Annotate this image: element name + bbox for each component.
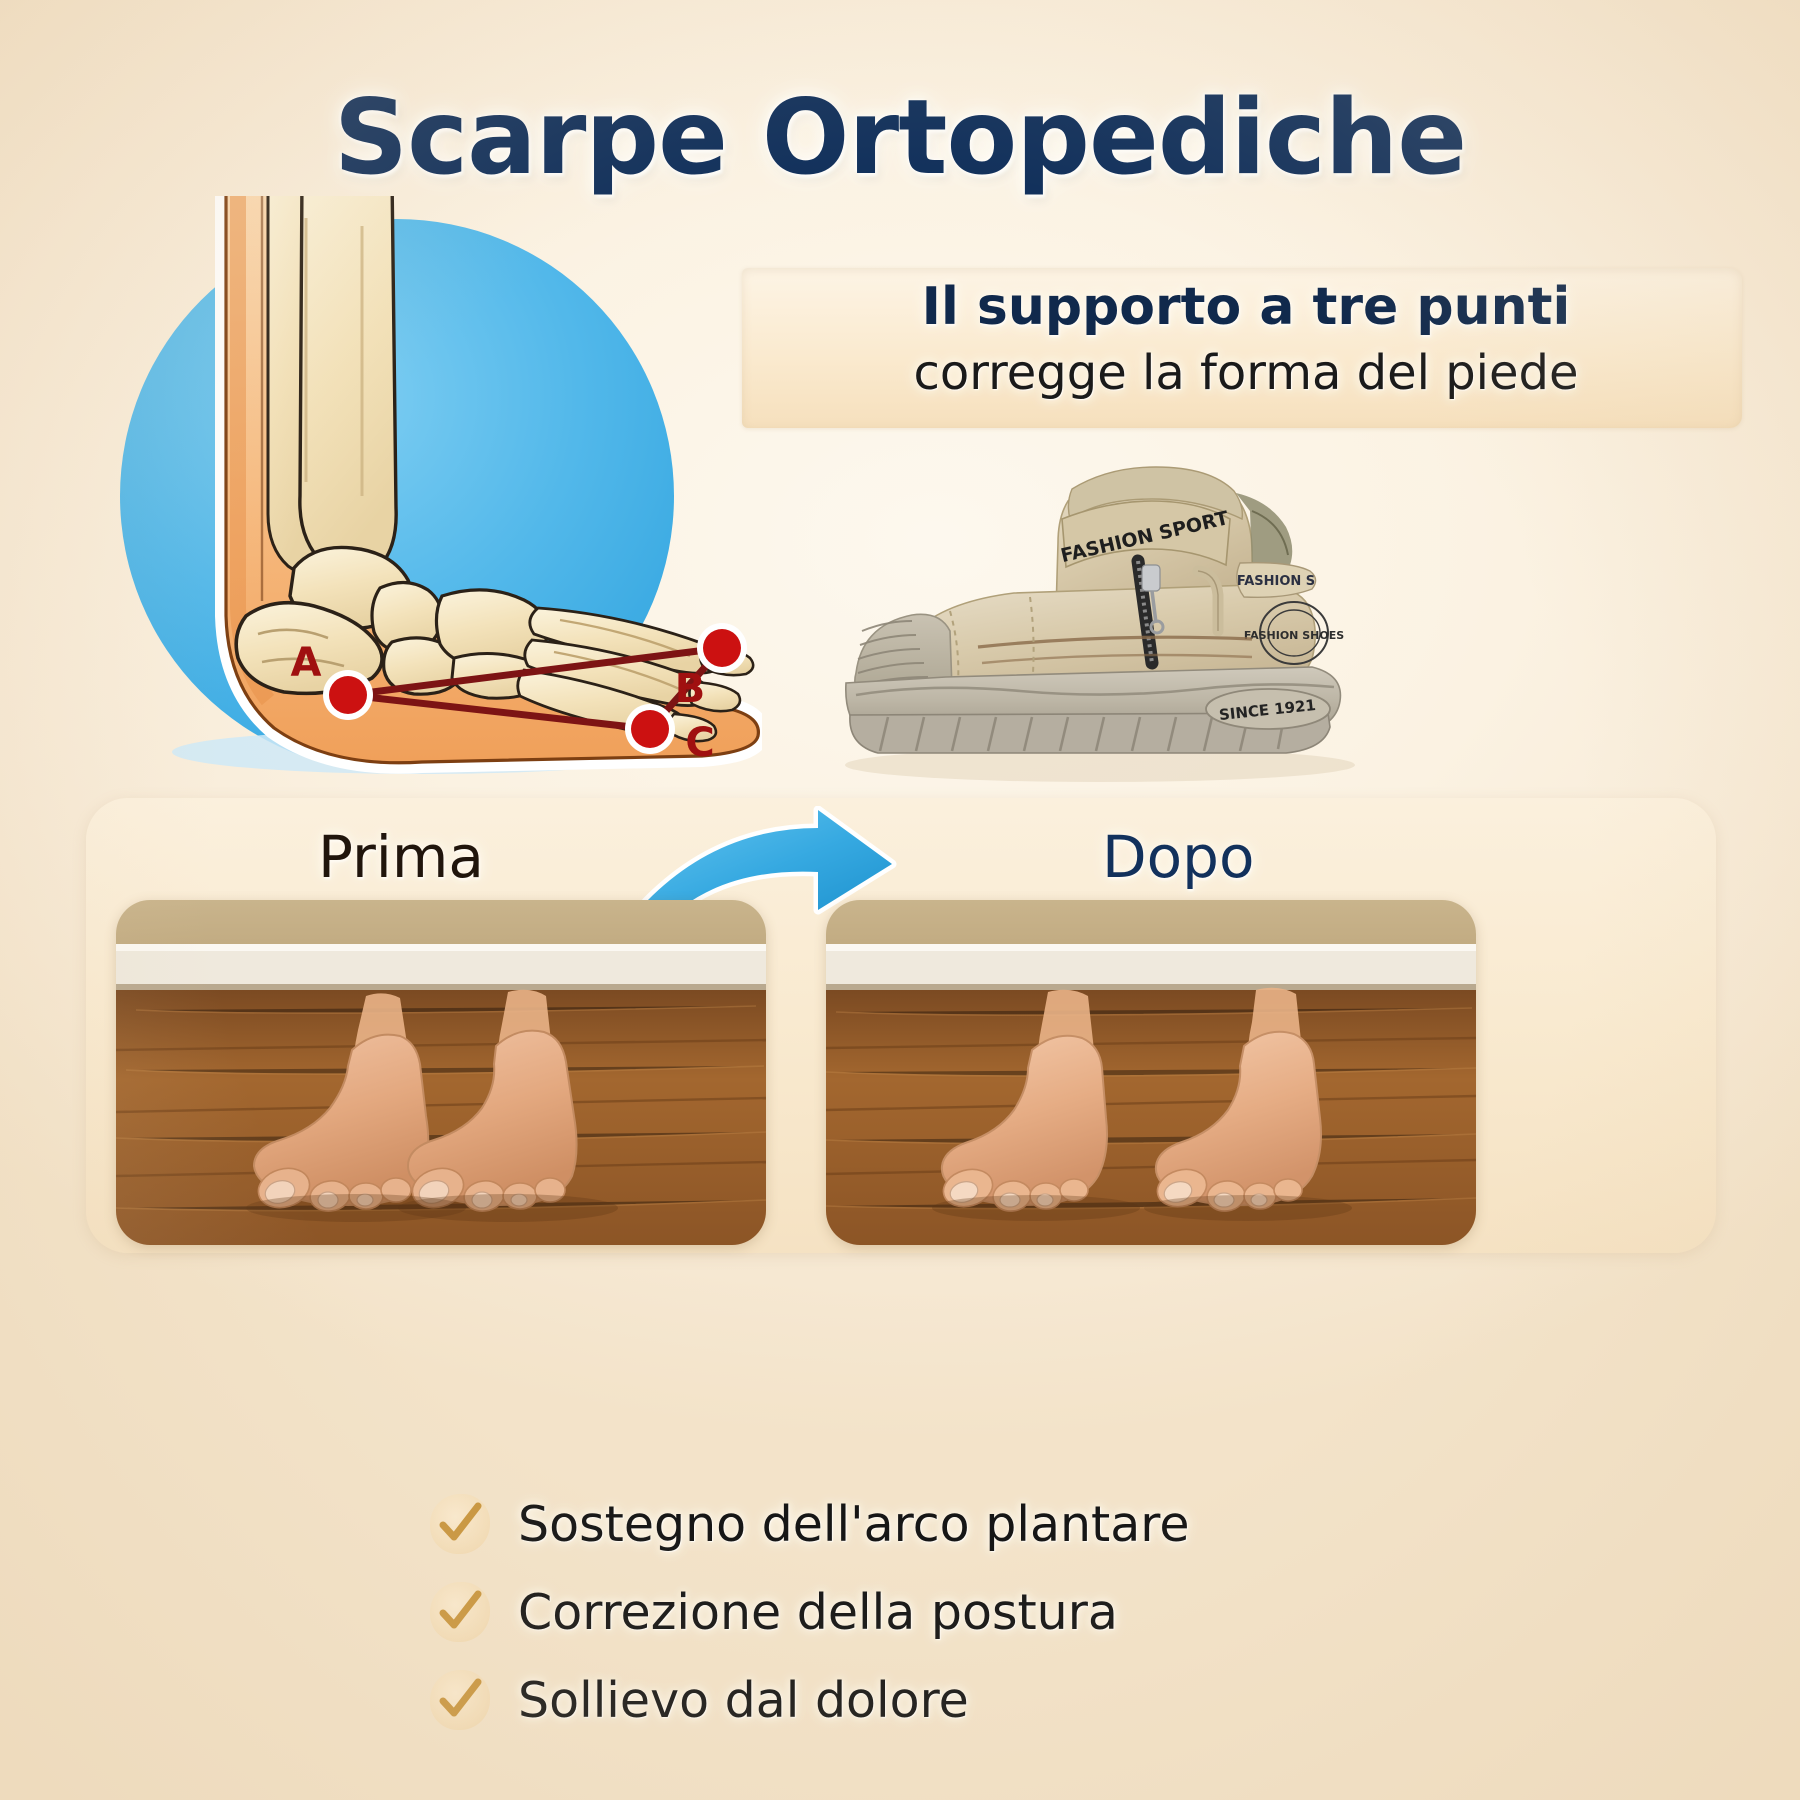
benefit-label: Sostegno dell'arco plantare xyxy=(518,1496,1189,1553)
list-item: Sollievo dal dolore xyxy=(430,1656,1530,1744)
headline-primary: Il supporto a tre punti xyxy=(742,277,1750,337)
before-photo xyxy=(116,900,766,1245)
check-icon xyxy=(430,1494,490,1554)
list-item: Correzione della postura xyxy=(430,1568,1530,1656)
benefits-list: Sostegno dell'arco plantare Correzione d… xyxy=(430,1480,1530,1744)
after-label: Dopo xyxy=(1102,823,1254,891)
benefit-label: Correzione della postura xyxy=(518,1584,1118,1641)
check-icon xyxy=(430,1670,490,1730)
shoe-badge-text: FASHION SHOES xyxy=(1244,629,1344,642)
anatomy-label-b: B xyxy=(675,666,706,712)
check-icon xyxy=(430,1582,490,1642)
page-title: Scarpe Ortopediche xyxy=(0,78,1800,198)
shoe-tongue-text: FASHION S xyxy=(1237,574,1315,589)
benefit-label: Sollievo dal dolore xyxy=(518,1672,969,1729)
headline-secondary: corregge la forma del piede xyxy=(742,345,1750,401)
foot-anatomy-diagram: A B C xyxy=(62,196,762,804)
shoe-product-photo: FASHION SPORT FASHION S FASHION SHOES xyxy=(800,415,1390,800)
lower-leg-bones xyxy=(268,196,396,578)
before-label: Prima xyxy=(318,823,484,891)
after-photo xyxy=(826,900,1476,1245)
anatomy-label-a: A xyxy=(291,640,322,686)
list-item: Sostegno dell'arco plantare xyxy=(430,1480,1530,1568)
anatomy-label-c: C xyxy=(685,720,714,766)
poster-root: Scarpe Ortopediche xyxy=(0,0,1800,1800)
